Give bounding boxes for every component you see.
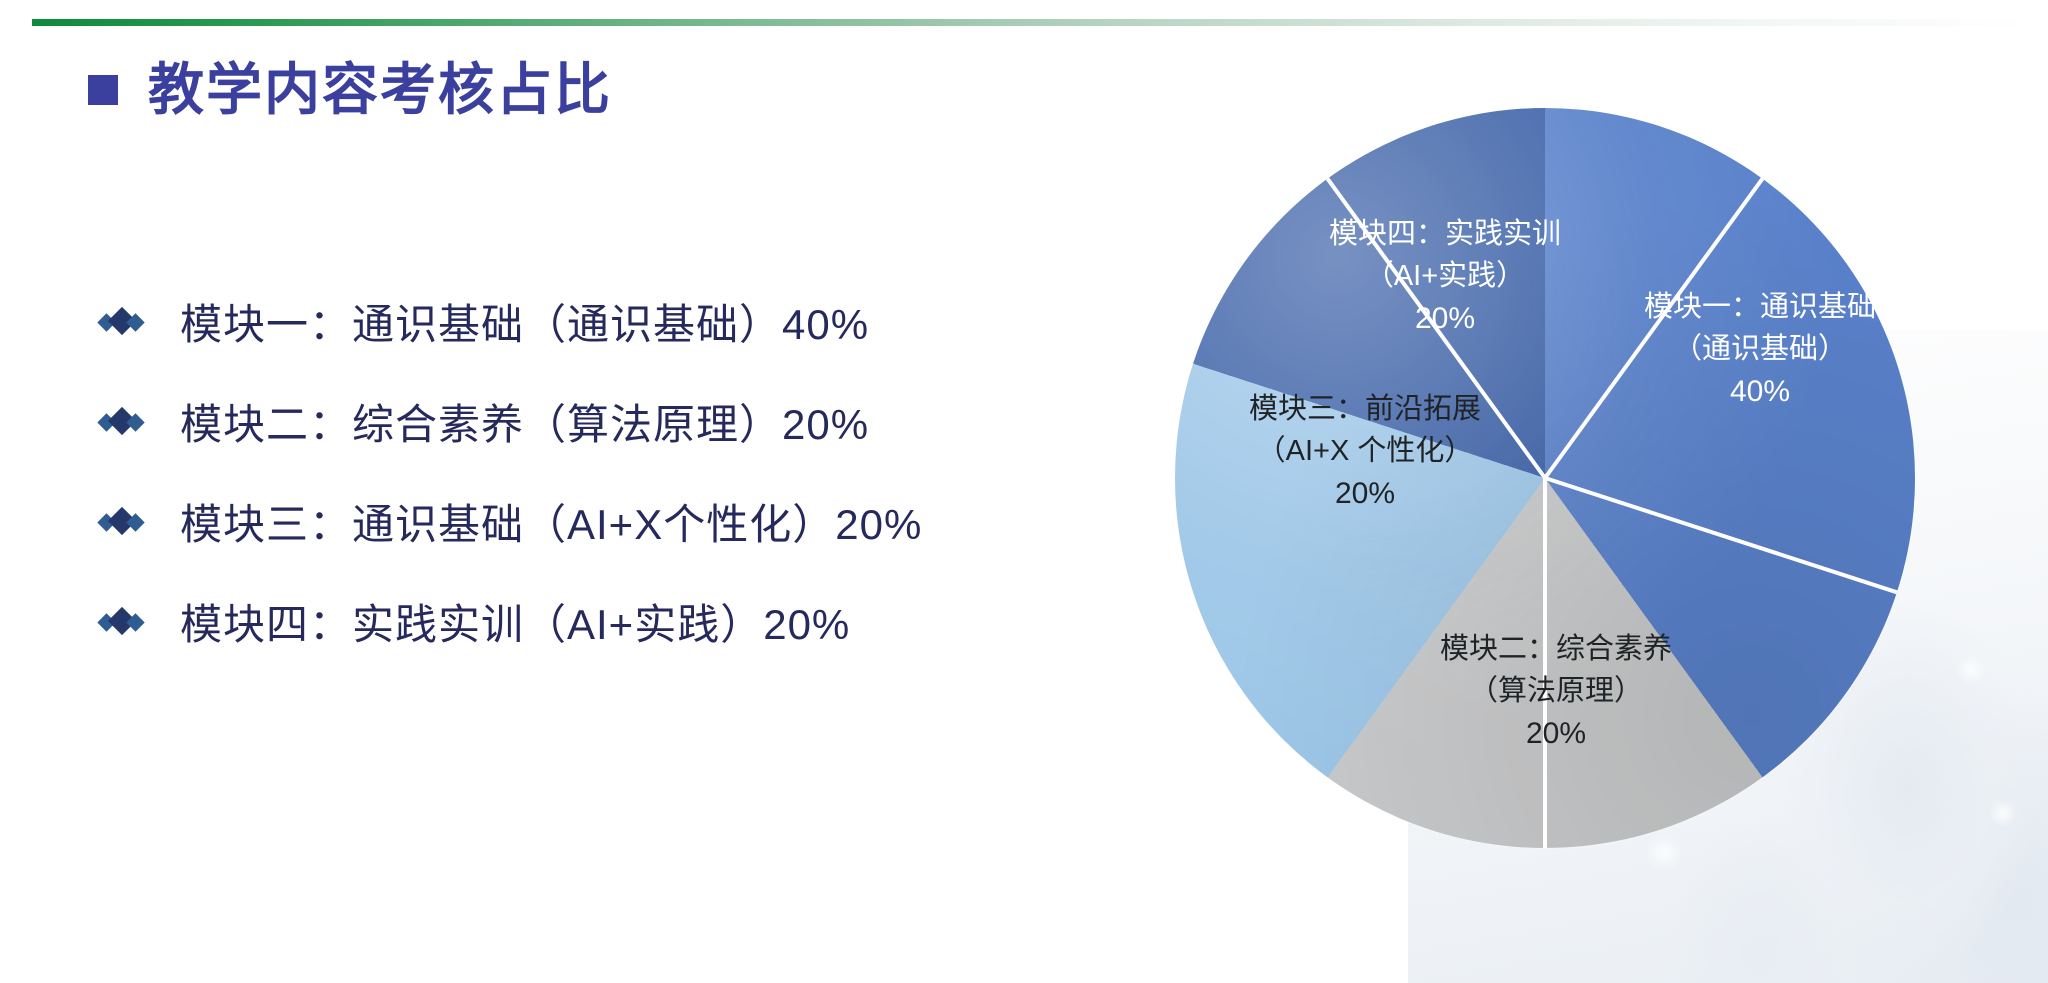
square-bullet-icon <box>88 75 118 105</box>
top-accent-rule <box>32 19 2032 26</box>
list-item-label: 模块四：实践实训（AI+实践）20% <box>180 602 850 648</box>
list-item-label: 模块一：通识基础（通识基础）40% <box>180 302 869 348</box>
slide-canvas: 教学内容考核占比 模块一：通识基础（通识基础）40% 模块二：综合素养（算法原理… <box>0 0 2048 983</box>
list-item-label: 模块三：通识基础（AI+X个性化）20% <box>180 502 922 548</box>
pie-slices <box>1175 108 1915 848</box>
diamond-bullet-icon <box>100 405 146 445</box>
diamond-bullet-icon <box>100 305 146 345</box>
diamond-bullet-icon <box>100 505 146 545</box>
list-item-label: 模块二：综合素养（算法原理）20% <box>180 402 869 448</box>
diamond-bullet-icon <box>100 605 146 645</box>
list-item: 模块二：综合素养（算法原理）20% <box>100 375 1060 475</box>
list-item: 模块四：实践实训（AI+实践）20% <box>100 575 1060 675</box>
list-item: 模块三：通识基础（AI+X个性化）20% <box>100 475 1060 575</box>
page-title-text: 教学内容考核占比 <box>148 62 612 118</box>
bullet-list: 模块一：通识基础（通识基础）40% 模块二：综合素养（算法原理）20% 模块三：… <box>100 275 1060 675</box>
pie-chart: 模块一：通识基础 （通识基础） 40% 模块二：综合素养 （算法原理） 20% … <box>1175 108 1915 848</box>
list-item: 模块一：通识基础（通识基础）40% <box>100 275 1060 375</box>
page-title: 教学内容考核占比 <box>88 62 612 118</box>
